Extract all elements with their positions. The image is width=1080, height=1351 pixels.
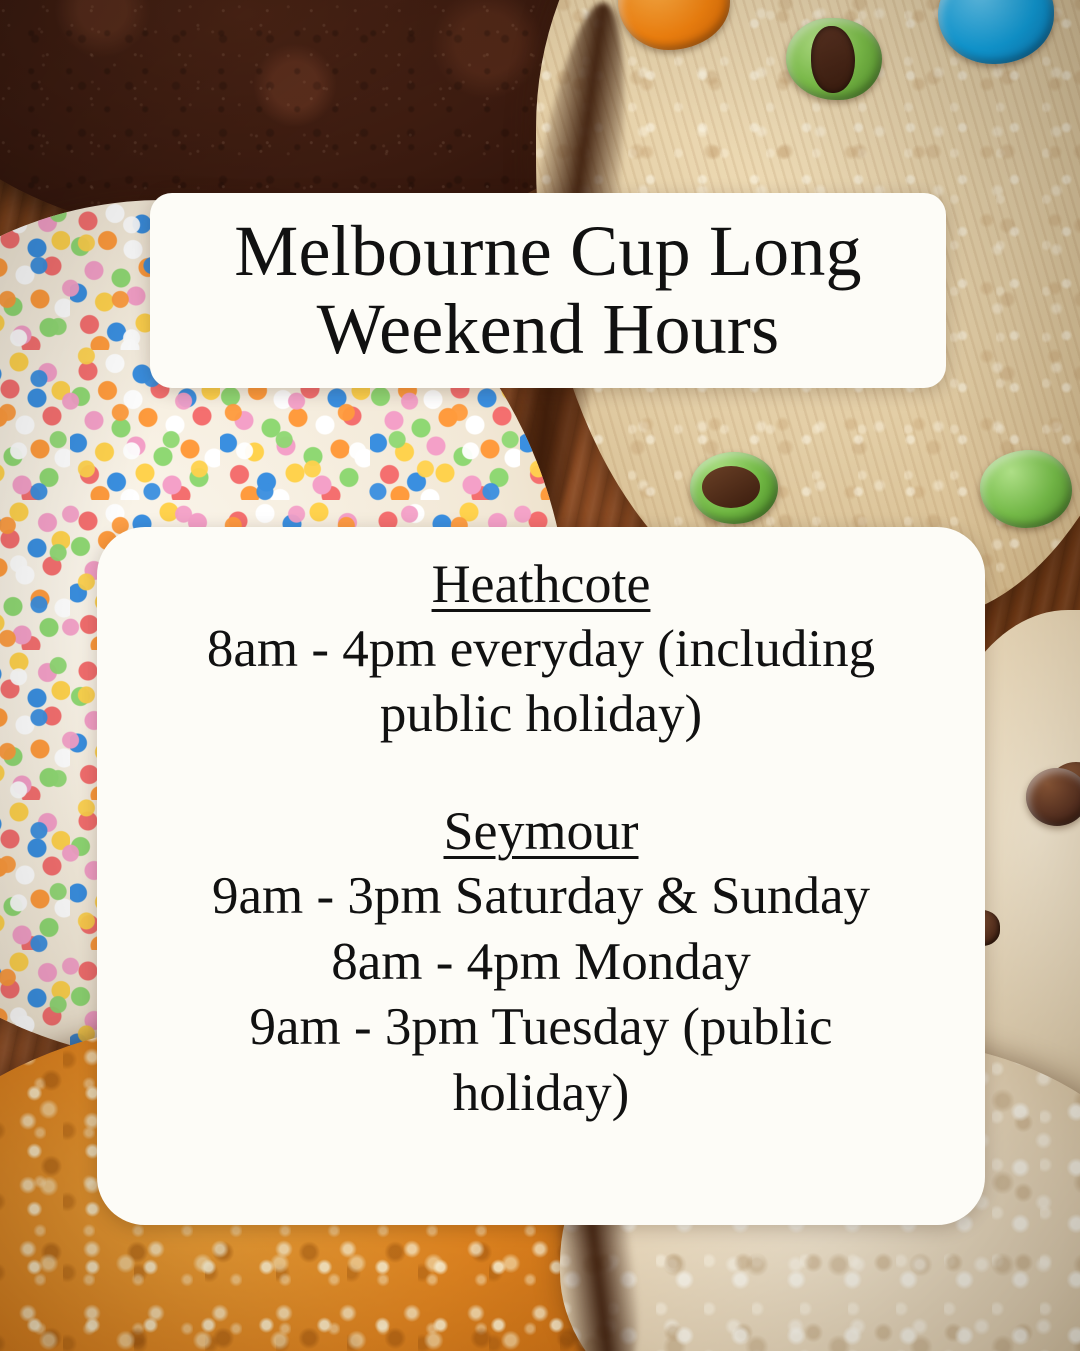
page-title: Melbourne Cup Long Weekend Hours xyxy=(220,213,876,369)
title-card: Melbourne Cup Long Weekend Hours xyxy=(150,193,946,388)
location-heading-seymour: Seymour xyxy=(444,800,639,864)
candy-green-right xyxy=(980,450,1072,528)
location-heading-heathcote: Heathcote xyxy=(432,553,651,617)
candy-green-mid xyxy=(690,452,778,524)
opening-hours-card: Heathcote 8am - 4pm everyday (including … xyxy=(97,527,985,1225)
location-hours-heathcote: 8am - 4pm everyday (including public hol… xyxy=(199,617,883,748)
chocolate-chip xyxy=(1026,768,1080,826)
candy-green-top xyxy=(786,18,882,100)
location-hours-seymour: 9am - 3pm Saturday & Sunday 8am - 4pm Mo… xyxy=(204,864,878,1127)
poster-canvas: Melbourne Cup Long Weekend Hours Heathco… xyxy=(0,0,1080,1351)
